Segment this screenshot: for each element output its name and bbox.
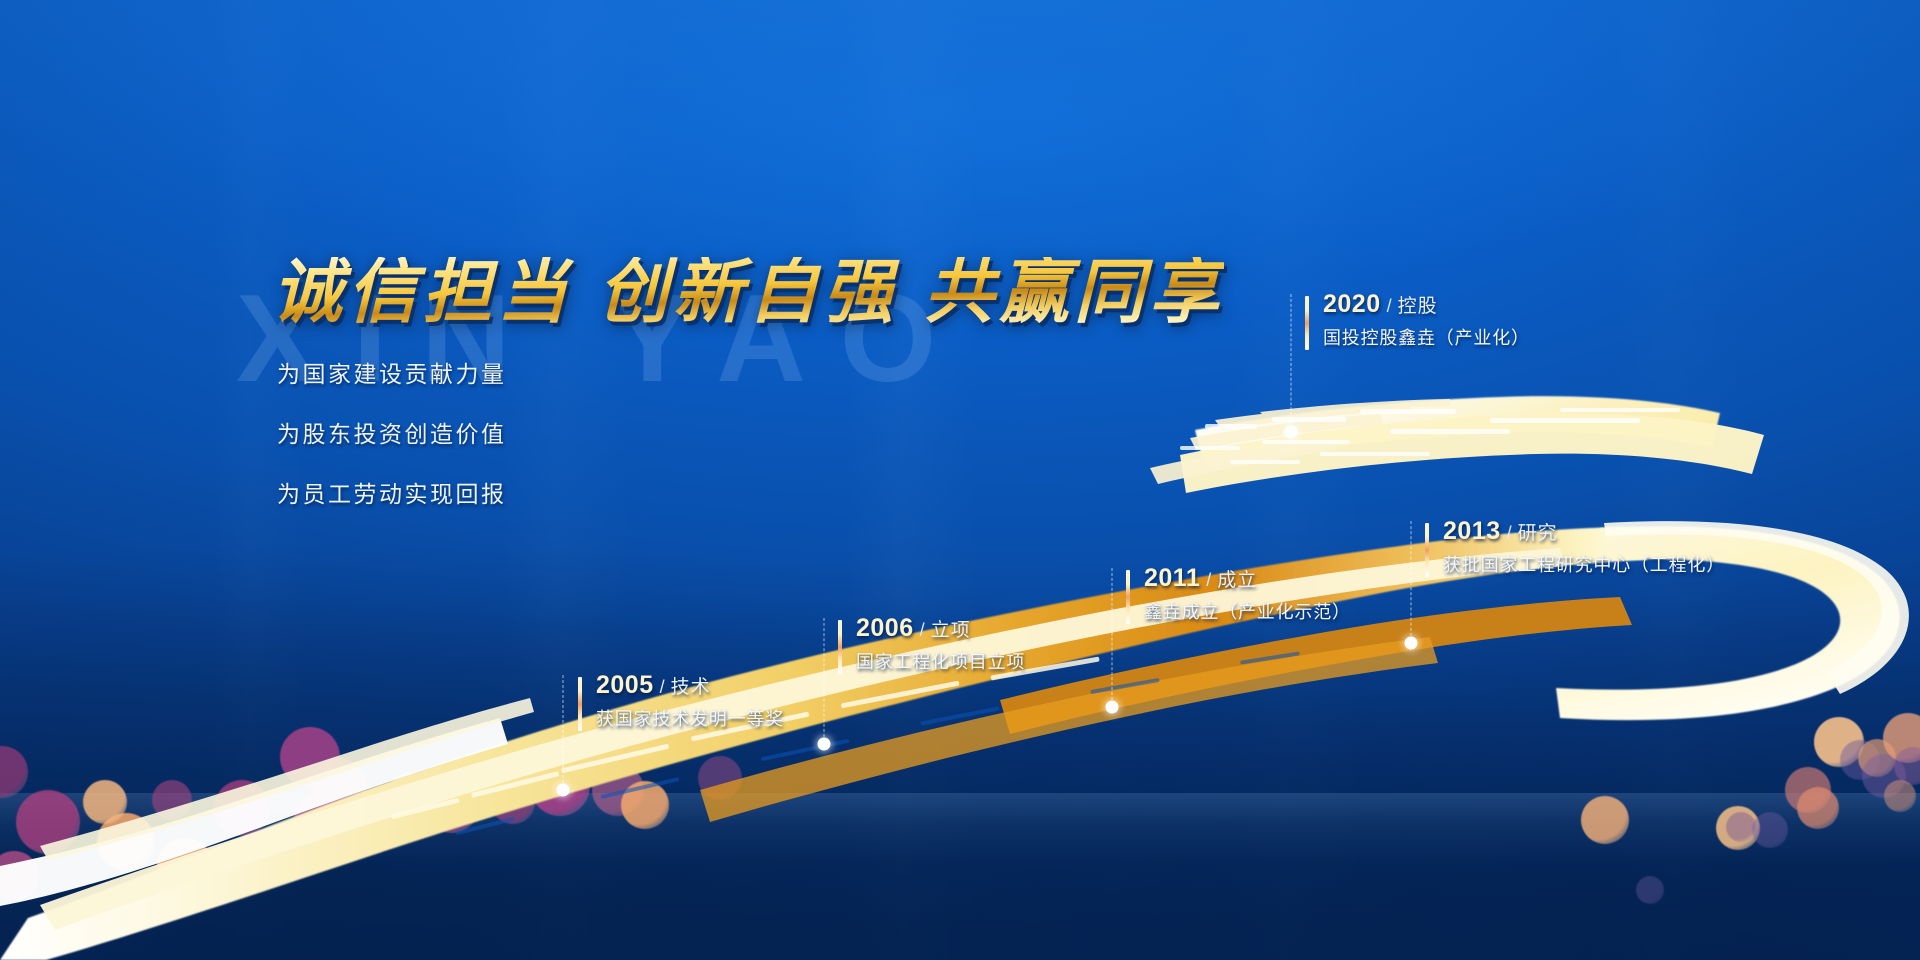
timeline-connector-line <box>1291 294 1292 430</box>
timeline-connector-line <box>1112 568 1113 705</box>
timeline-label-head: 2013/研究 <box>1425 519 1725 544</box>
timeline-connector-line <box>1411 521 1412 641</box>
timeline-marker-dot[interactable] <box>1285 426 1298 439</box>
timeline-accent-bar <box>578 677 582 731</box>
timeline-label: 2013/研究获批国家工程研究中心（工程化） <box>1425 519 1725 574</box>
timeline-marker-dot[interactable] <box>1106 701 1119 714</box>
timeline-year: 2013 <box>1443 517 1501 545</box>
timeline-accent-bar <box>1126 570 1130 624</box>
timeline-year: 2011 <box>1144 564 1200 592</box>
timeline-tag: 控股 <box>1398 296 1438 317</box>
page-title: 诚信担当创新自强共赢同享 <box>272 257 1224 327</box>
slogan-list: 为国家建设贡献力量为股东投资创造价值为员工劳动实现回报 <box>277 363 507 543</box>
timeline-description: 获国家技术发明一等奖 <box>578 710 784 728</box>
timeline-tag: 研究 <box>1518 523 1558 544</box>
slogan-line: 为股东投资创造价值 <box>277 423 507 446</box>
timeline-separator: / <box>654 677 671 697</box>
timeline-marker-dot[interactable] <box>818 738 831 751</box>
timeline-accent-bar <box>1425 523 1429 577</box>
timeline-tag: 立项 <box>931 620 971 641</box>
timeline-tag: 成立 <box>1217 570 1257 591</box>
timeline-label-head: 2006/立项 <box>838 616 1025 641</box>
timeline-separator: / <box>1381 296 1398 316</box>
timeline-label-head: 2005/技术 <box>578 673 784 698</box>
slogan-line: 为员工劳动实现回报 <box>277 483 507 506</box>
timeline-connector-line <box>563 675 564 788</box>
timeline-description: 国投控股鑫垚（产业化） <box>1305 329 1530 347</box>
timeline-description: 鑫垚成立（产业化示范） <box>1126 603 1351 621</box>
timeline-accent-bar <box>838 620 842 674</box>
timeline-tag: 技术 <box>671 677 711 698</box>
timeline-description: 获批国家工程研究中心（工程化） <box>1425 556 1725 574</box>
timeline-year: 2020 <box>1323 290 1381 318</box>
timeline-accent-bar <box>1305 296 1309 350</box>
timeline-label-head: 2020/控股 <box>1305 292 1530 317</box>
title-part-2: 创新自强 <box>598 251 898 333</box>
timeline-marker-dot[interactable] <box>557 784 570 797</box>
timeline-marker-dot[interactable] <box>1405 637 1418 650</box>
timeline-separator: / <box>1501 523 1518 543</box>
timeline-label: 2020/控股国投控股鑫垚（产业化） <box>1305 292 1530 347</box>
timeline-separator: / <box>914 620 931 640</box>
timeline-separator: / <box>1200 570 1217 590</box>
title-part-3: 共赢同享 <box>924 251 1224 333</box>
timeline-label: 2011/成立鑫垚成立（产业化示范） <box>1126 566 1351 621</box>
slogan-line: 为国家建设贡献力量 <box>277 363 507 386</box>
timeline-label: 2006/立项国家工程化项目立项 <box>838 616 1025 671</box>
timeline-connector-line <box>824 618 825 742</box>
background-haze-band <box>0 793 1920 863</box>
timeline-description: 国家工程化项目立项 <box>838 653 1025 671</box>
timeline-year: 2005 <box>596 671 654 699</box>
timeline-label-head: 2011/成立 <box>1126 566 1351 591</box>
timeline-year: 2006 <box>856 614 914 642</box>
timeline-label: 2005/技术获国家技术发明一等奖 <box>578 673 784 728</box>
banner-canvas: XIN YAO 诚信担当创新自强共赢同享 为国家建设贡献力量为股东投资创造价值为… <box>0 0 1920 960</box>
title-part-1: 诚信担当 <box>272 251 572 333</box>
